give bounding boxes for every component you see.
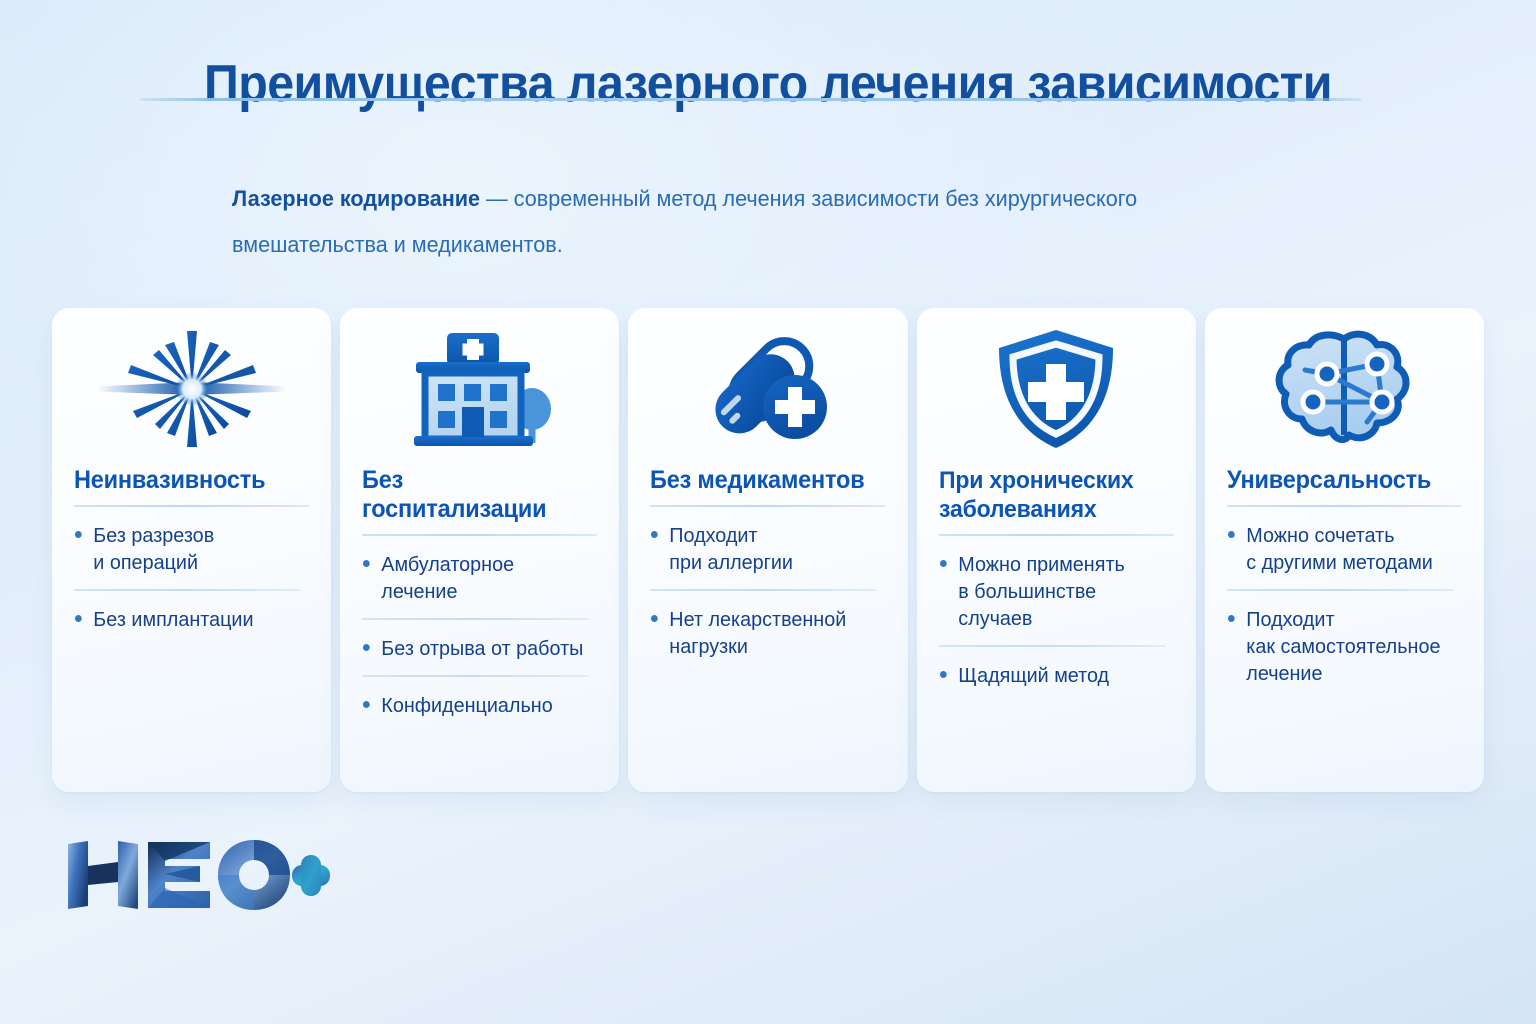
page-title: Преимущества лазерного лечения зависимос…	[54, 52, 1482, 116]
card-title: Неинвазивность	[74, 466, 295, 495]
pills-icon	[650, 308, 885, 466]
header: Преимущества лазерного лечения зависимос…	[0, 52, 1536, 116]
laser-burst-icon	[74, 308, 309, 466]
card-bullet-list: Амбулаторное лечение Без отрыва от работ…	[362, 536, 597, 732]
list-item: Подходит как самостоятельное лечение	[1227, 589, 1454, 700]
list-item: Щадящий метод	[939, 645, 1166, 702]
list-item: Можно применять в большинстве случаев	[939, 536, 1166, 645]
card-bullet-list: Без разрезов и операций Без имплантации	[74, 507, 309, 646]
list-item: Можно сочетать с другими методами	[1227, 507, 1454, 589]
card-bullet-list: Можно применять в большинстве случаев Ща…	[939, 536, 1174, 702]
list-item: Без отрыва от работы	[362, 618, 589, 675]
neo-plus-logo	[64, 838, 334, 912]
shield-cross-icon	[939, 308, 1174, 466]
brain-network-icon	[1227, 308, 1462, 466]
benefit-card-bez-gospitalizacii[interactable]: Без госпитализации Амбулаторное лечение …	[340, 308, 619, 792]
card-title: Без медикаментов	[650, 466, 871, 495]
subtitle: Лазерное кодирование — современный метод…	[232, 176, 1173, 268]
list-item: Без имплантации	[74, 589, 301, 646]
card-title: Универсальность	[1227, 466, 1448, 495]
hospital-building-icon	[362, 308, 597, 466]
infographic-page: Преимущества лазерного лечения зависимос…	[0, 0, 1536, 1024]
benefit-card-neinvazivnost[interactable]: Неинвазивность Без разрезов и операций Б…	[52, 308, 331, 792]
benefit-cards-row: Неинвазивность Без разрезов и операций Б…	[52, 308, 1484, 792]
subtitle-lead: Лазерное кодирование	[232, 186, 480, 211]
list-item: Конфиденциально	[362, 675, 589, 732]
card-bullet-list: Можно сочетать с другими методами Подход…	[1227, 507, 1462, 700]
card-title: Без госпитализации	[362, 466, 583, 524]
benefit-card-bez-medikamentov[interactable]: Без медикаментов Подходит при аллергии Н…	[628, 308, 907, 792]
list-item: Без разрезов и операций	[74, 507, 301, 589]
title-divider	[140, 98, 1362, 101]
list-item: Подходит при аллергии	[650, 507, 877, 589]
benefit-card-universalnost[interactable]: Универсальность Можно сочетать с другими…	[1205, 308, 1484, 792]
card-bullet-list: Подходит при аллергии Нет лекарственной …	[650, 507, 885, 673]
list-item: Нет лекарственной нагрузки	[650, 589, 877, 673]
benefit-card-hronicheskie-zabolevaniya[interactable]: При хронических заболеваниях Можно приме…	[917, 308, 1196, 792]
list-item: Амбулаторное лечение	[362, 536, 589, 618]
card-title: При хронических заболеваниях	[939, 466, 1160, 524]
